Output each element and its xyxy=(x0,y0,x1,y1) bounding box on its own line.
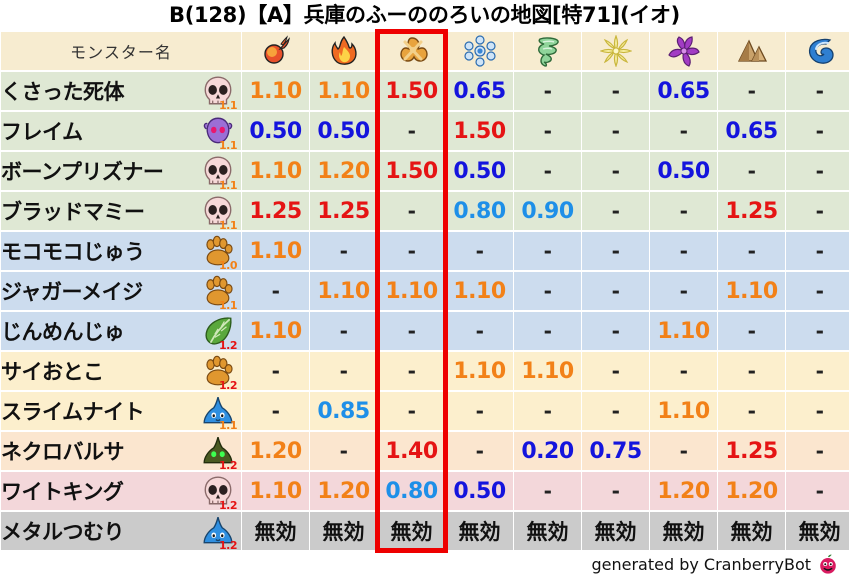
monster-name-label: じんめんじゅ xyxy=(1,316,124,346)
resistance-cell: - xyxy=(446,392,513,430)
resistance-cell: - xyxy=(786,232,849,270)
resistance-cell: - xyxy=(786,272,849,310)
column-header-light[interactable] xyxy=(582,32,649,70)
resistance-cell: - xyxy=(786,392,849,430)
resistance-cell: 1.50 xyxy=(378,72,445,110)
resistance-cell: - xyxy=(242,352,309,390)
resistance-cell: 1.10 xyxy=(514,352,581,390)
table-row: くさった死体1.11.101.101.500.65--0.65-- xyxy=(1,72,849,110)
resistance-cell: 1.10 xyxy=(242,232,309,270)
monster-name-cell[interactable]: モコモコじゅう1.0 xyxy=(1,232,241,270)
resistance-cell: 1.10 xyxy=(242,472,309,510)
sunburst-icon xyxy=(582,35,649,67)
resistance-cell: - xyxy=(650,112,717,150)
resistance-cell: 無効 xyxy=(514,512,581,550)
mountain-icon xyxy=(718,35,785,67)
explosion-icon xyxy=(378,35,445,67)
monster-rank-label: 1.1 xyxy=(219,300,237,311)
resistance-matrix-page: B(128)【A】兵庫のふーののろいの地図[特71](イオ) モンスター名くさっ… xyxy=(0,0,849,583)
resistance-cell: 1.20 xyxy=(650,472,717,510)
resistance-cell: - xyxy=(582,152,649,190)
column-header-dark[interactable] xyxy=(650,32,717,70)
resistance-cell: 1.50 xyxy=(378,152,445,190)
column-header-wind[interactable] xyxy=(514,32,581,70)
monster-rank-label: 1.2 xyxy=(219,540,237,551)
resistance-cell: - xyxy=(310,312,377,350)
resistance-cell: 1.10 xyxy=(650,312,717,350)
table-row: メタルつむり1.2無効無効無効無効無効無効無効無効無効 xyxy=(1,512,849,550)
resistance-cell: 0.65 xyxy=(718,112,785,150)
monster-name-label: モコモコじゅう xyxy=(1,236,145,266)
resistance-cell: - xyxy=(650,352,717,390)
resistance-cell: 1.10 xyxy=(718,272,785,310)
resistance-cell: - xyxy=(650,192,717,230)
monster-rank-label: 1.2 xyxy=(219,460,237,471)
resistance-cell: 無効 xyxy=(650,512,717,550)
resistance-cell: 1.10 xyxy=(446,272,513,310)
resistance-cell: 1.10 xyxy=(242,152,309,190)
column-header-explosion[interactable] xyxy=(378,32,445,70)
monster-rank-label: 1.1 xyxy=(219,140,237,151)
resistance-cell: - xyxy=(378,352,445,390)
resistance-cell: 0.80 xyxy=(446,192,513,230)
resistance-cell: - xyxy=(514,392,581,430)
monster-rank-label: 1.2 xyxy=(219,340,237,351)
table-row: フレイム1.10.500.50-1.50---0.65- xyxy=(1,112,849,150)
resistance-cell: 1.20 xyxy=(310,152,377,190)
resistance-cell: - xyxy=(310,432,377,470)
resistance-cell: 1.25 xyxy=(310,192,377,230)
table-row: ボーンプリズナー1.11.101.201.500.50--0.50-- xyxy=(1,152,849,190)
resistance-cell: - xyxy=(514,272,581,310)
table-header-row: モンスター名 xyxy=(1,32,849,70)
footer-text: generated by CranberryBot xyxy=(591,555,811,574)
pinwheel-icon xyxy=(650,35,717,67)
resistance-cell: 無効 xyxy=(310,512,377,550)
resistance-cell: - xyxy=(582,312,649,350)
resistance-cell: - xyxy=(514,112,581,150)
resistance-cell: - xyxy=(446,312,513,350)
monster-name-cell[interactable]: じんめんじゅ1.2 xyxy=(1,312,241,350)
monster-rank-label: 1.0 xyxy=(219,260,237,271)
resistance-cell: 1.25 xyxy=(718,432,785,470)
resistance-cell: 0.50 xyxy=(310,112,377,150)
resistance-cell: 1.20 xyxy=(718,472,785,510)
resistance-cell: 0.75 xyxy=(582,432,649,470)
resistance-cell: 0.50 xyxy=(446,472,513,510)
resistance-cell: - xyxy=(650,432,717,470)
resistance-cell: 0.90 xyxy=(514,192,581,230)
resistance-cell: 0.50 xyxy=(446,152,513,190)
column-header-water[interactable] xyxy=(786,32,849,70)
fireball-icon xyxy=(242,35,309,67)
resistance-cell: - xyxy=(514,232,581,270)
resistance-cell: - xyxy=(582,112,649,150)
resistance-cell: - xyxy=(786,112,849,150)
table-row: サイおとこ1.2---1.101.10---- xyxy=(1,352,849,390)
resistance-cell: - xyxy=(242,272,309,310)
resistance-cell: - xyxy=(310,232,377,270)
resistance-cell: - xyxy=(582,192,649,230)
table-row: ジャガーメイジ1.1-1.101.101.10---1.10- xyxy=(1,272,849,310)
resistance-cell: - xyxy=(446,232,513,270)
monster-name-label: ネクロバルサ xyxy=(1,436,124,466)
monster-name-cell[interactable]: ブラッドマミー1.1 xyxy=(1,192,241,230)
resistance-cell: 0.65 xyxy=(650,72,717,110)
resistance-cell: 0.80 xyxy=(378,472,445,510)
tornado-icon xyxy=(514,35,581,67)
monster-name-label: くさった死体 xyxy=(1,76,124,106)
resistance-cell: - xyxy=(378,192,445,230)
resistance-cell: - xyxy=(310,352,377,390)
monster-name-label: メタルつむり xyxy=(1,516,124,546)
wave-icon xyxy=(786,35,849,67)
monster-name-label: ジャガーメイジ xyxy=(1,276,143,306)
monster-rank-label: 1.1 xyxy=(219,100,237,111)
monster-name-cell[interactable]: ネクロバルサ1.2 xyxy=(1,432,241,470)
resistance-cell: 無効 xyxy=(242,512,309,550)
resistance-cell: - xyxy=(718,352,785,390)
resistance-cell: - xyxy=(650,232,717,270)
table-row: ブラッドマミー1.11.251.25-0.800.90--1.25- xyxy=(1,192,849,230)
page-title: B(128)【A】兵庫のふーののろいの地図[特71](イオ) xyxy=(0,2,849,28)
resistance-cell: 1.10 xyxy=(310,272,377,310)
resistance-cell: 0.65 xyxy=(446,72,513,110)
resistance-cell: - xyxy=(786,432,849,470)
monster-name-cell[interactable]: サイおとこ1.2 xyxy=(1,352,241,390)
resistance-cell: 無効 xyxy=(446,512,513,550)
resistance-cell: 1.10 xyxy=(446,352,513,390)
snowflake-icon xyxy=(446,35,513,67)
table-row: ワイトキング1.21.101.200.800.50--1.201.20- xyxy=(1,472,849,510)
resistance-cell: - xyxy=(786,192,849,230)
resistance-cell: - xyxy=(514,312,581,350)
table-row: じんめんじゅ1.21.10-----1.10-- xyxy=(1,312,849,350)
resistance-cell: - xyxy=(582,392,649,430)
resistance-cell: - xyxy=(378,392,445,430)
resistance-cell: - xyxy=(718,232,785,270)
resistance-cell: - xyxy=(582,72,649,110)
resistance-cell: 1.10 xyxy=(650,392,717,430)
resistance-cell: - xyxy=(582,472,649,510)
resistance-cell: - xyxy=(242,392,309,430)
resistance-cell: - xyxy=(786,472,849,510)
monster-name-label: フレイム xyxy=(1,116,83,146)
resistance-cell: - xyxy=(378,112,445,150)
resistance-cell: 0.20 xyxy=(514,432,581,470)
footer-credit: generated by CranberryBot xyxy=(591,551,839,577)
monster-rank-label: 1.1 xyxy=(219,180,237,191)
resistance-cell: - xyxy=(582,232,649,270)
resistance-cell: - xyxy=(718,392,785,430)
resistance-cell: 1.10 xyxy=(242,312,309,350)
column-header-ice[interactable] xyxy=(446,32,513,70)
monster-name-cell[interactable]: くさった死体1.1 xyxy=(1,72,241,110)
resistance-cell: 0.50 xyxy=(650,152,717,190)
monster-rank-label: 1.2 xyxy=(219,500,237,511)
monster-name-cell[interactable]: メタルつむり1.2 xyxy=(1,512,241,550)
table-row: モコモコじゅう1.01.10-------- xyxy=(1,232,849,270)
resistance-cell: - xyxy=(718,152,785,190)
resistance-cell: - xyxy=(514,72,581,110)
resistance-cell: - xyxy=(718,72,785,110)
resistance-cell: - xyxy=(514,472,581,510)
resistance-cell: 1.25 xyxy=(718,192,785,230)
monster-name-cell[interactable]: ボーンプリズナー1.1 xyxy=(1,152,241,190)
resistance-cell: - xyxy=(786,72,849,110)
resistance-cell: 1.10 xyxy=(310,72,377,110)
column-header-fireball[interactable] xyxy=(242,32,309,70)
monster-name-label: サイおとこ xyxy=(1,356,104,386)
resistance-cell: - xyxy=(650,272,717,310)
monster-name-cell[interactable]: フレイム1.1 xyxy=(1,112,241,150)
monster-rank-label: 1.2 xyxy=(219,380,237,391)
resistance-cell: 1.25 xyxy=(242,192,309,230)
monster-rank-label: 1.1 xyxy=(219,420,237,431)
flame-icon xyxy=(310,35,377,67)
resistance-cell: 1.10 xyxy=(378,272,445,310)
resistance-cell: - xyxy=(786,312,849,350)
resistance-cell: - xyxy=(378,312,445,350)
resistance-cell: 無効 xyxy=(582,512,649,550)
resistance-cell: - xyxy=(718,312,785,350)
resistance-cell: 1.20 xyxy=(310,472,377,510)
resistance-cell: 0.85 xyxy=(310,392,377,430)
resistance-cell: 0.50 xyxy=(242,112,309,150)
resistance-table: モンスター名くさった死体1.11.101.101.500.65--0.65--フ… xyxy=(0,30,849,552)
resistance-cell: - xyxy=(786,352,849,390)
monster-name-label: ブラッドマミー xyxy=(1,196,145,226)
resistance-cell: 無効 xyxy=(378,512,445,550)
resistance-cell: 1.50 xyxy=(446,112,513,150)
column-header-flame[interactable] xyxy=(310,32,377,70)
monster-rank-label: 1.1 xyxy=(219,220,237,231)
resistance-cell: - xyxy=(582,352,649,390)
table-row: スライムナイト1.1-0.85----1.10-- xyxy=(1,392,849,430)
resistance-cell: - xyxy=(378,232,445,270)
resistance-cell: 1.10 xyxy=(242,72,309,110)
monster-name-label: スライムナイト xyxy=(1,396,144,426)
monster-name-cell[interactable]: ワイトキング1.2 xyxy=(1,472,241,510)
monster-name-cell[interactable]: スライムナイト1.1 xyxy=(1,392,241,430)
monster-name-label: ワイトキング xyxy=(1,476,123,506)
column-header-monster-name: モンスター名 xyxy=(1,32,241,70)
table-row: ネクロバルサ1.21.20-1.40-0.200.75-1.25- xyxy=(1,432,849,470)
resistance-cell: - xyxy=(786,152,849,190)
resistance-cell: 1.20 xyxy=(242,432,309,470)
cranberry-bot-icon xyxy=(817,553,839,575)
column-header-earth[interactable] xyxy=(718,32,785,70)
resistance-cell: - xyxy=(514,152,581,190)
monster-name-label: ボーンプリズナー xyxy=(1,156,163,186)
resistance-cell: 無効 xyxy=(786,512,849,550)
resistance-cell: 1.40 xyxy=(378,432,445,470)
monster-name-cell[interactable]: ジャガーメイジ1.1 xyxy=(1,272,241,310)
resistance-cell: - xyxy=(582,272,649,310)
resistance-cell: 無効 xyxy=(718,512,785,550)
resistance-cell: - xyxy=(446,432,513,470)
